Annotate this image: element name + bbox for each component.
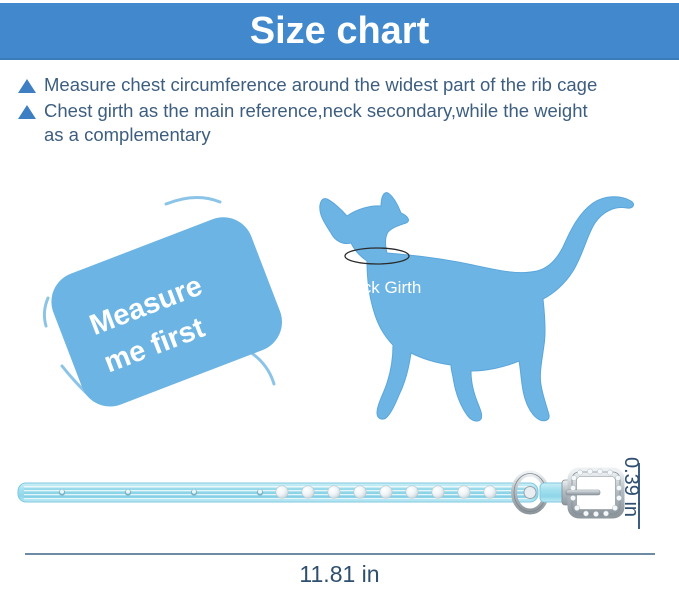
illustration-area: Measure me first Neck Girth (0, 175, 679, 440)
rhinestone-row (276, 486, 496, 498)
triangle-up-icon (18, 79, 36, 93)
collar-product-image (10, 460, 630, 540)
instruction-text: Chest girth as the main reference,neck s… (44, 99, 588, 147)
instruction-list: Measure chest circumference around the w… (18, 73, 664, 149)
collar-buckle (566, 469, 622, 517)
header-divider (0, 58, 679, 60)
measure-me-first-bubble: Measure me first (38, 180, 328, 430)
width-dimension: 0.39 in (636, 461, 676, 529)
list-item: Chest girth as the main reference,neck s… (18, 99, 664, 147)
length-dimension-label: 11.81 in (0, 561, 679, 588)
triangle-up-icon (18, 105, 36, 119)
length-dimension-rule (25, 553, 655, 555)
header-band: Size chart (0, 3, 679, 58)
size-chart-page: Size chart Measure chest circumference a… (0, 0, 679, 591)
list-item: Measure chest circumference around the w… (18, 73, 664, 97)
cat-body-shape (320, 193, 634, 421)
width-dimension-label: 0.39 in (619, 457, 642, 533)
neck-girth-label: Neck Girth (341, 278, 421, 297)
cat-silhouette: Neck Girth (305, 175, 655, 430)
product-dimension-area: 0.39 in 11.81 in (0, 455, 679, 591)
instruction-text: Measure chest circumference around the w… (44, 73, 597, 97)
page-title: Size chart (250, 12, 430, 50)
